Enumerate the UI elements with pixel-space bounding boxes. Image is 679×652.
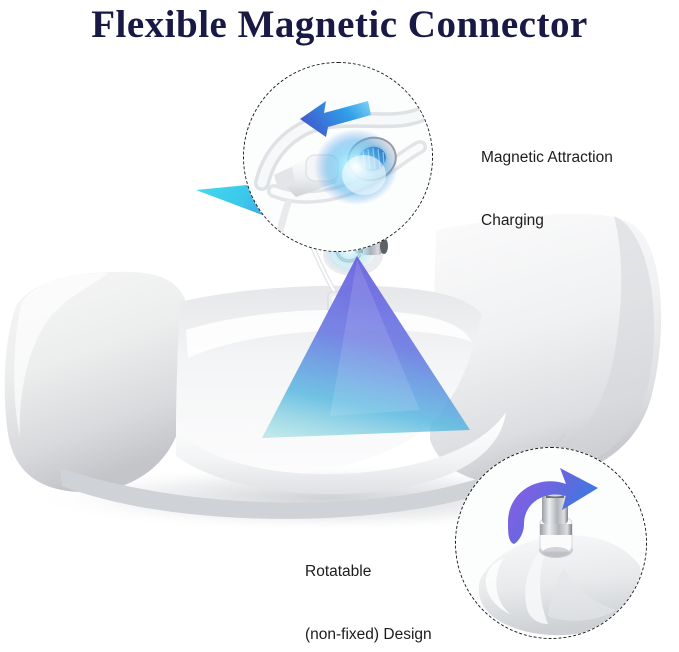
- label-magnetic-attraction: Magnetic Attraction Charging: [481, 106, 613, 273]
- product-left-end: [5, 272, 192, 492]
- rotating-magnetic-pin-icon: [456, 448, 647, 639]
- callout-circle-magnetic-attraction: [243, 62, 433, 252]
- product-marketing-image: Flexible Magnetic Connector: [0, 0, 679, 652]
- label-rotatable-line1: Rotatable: [305, 562, 432, 583]
- page-title: Flexible Magnetic Connector: [0, 2, 679, 47]
- label-magnetic-line1: Magnetic Attraction: [481, 148, 613, 169]
- callout-circle-rotatable-design: [455, 447, 647, 639]
- magnetic-connector-closeup-icon: [244, 63, 433, 252]
- label-rotatable-line2: (non-fixed) Design: [305, 625, 432, 646]
- label-magnetic-line2: Charging: [481, 211, 613, 232]
- label-rotatable-design: Rotatable (non-fixed) Design: [305, 520, 432, 652]
